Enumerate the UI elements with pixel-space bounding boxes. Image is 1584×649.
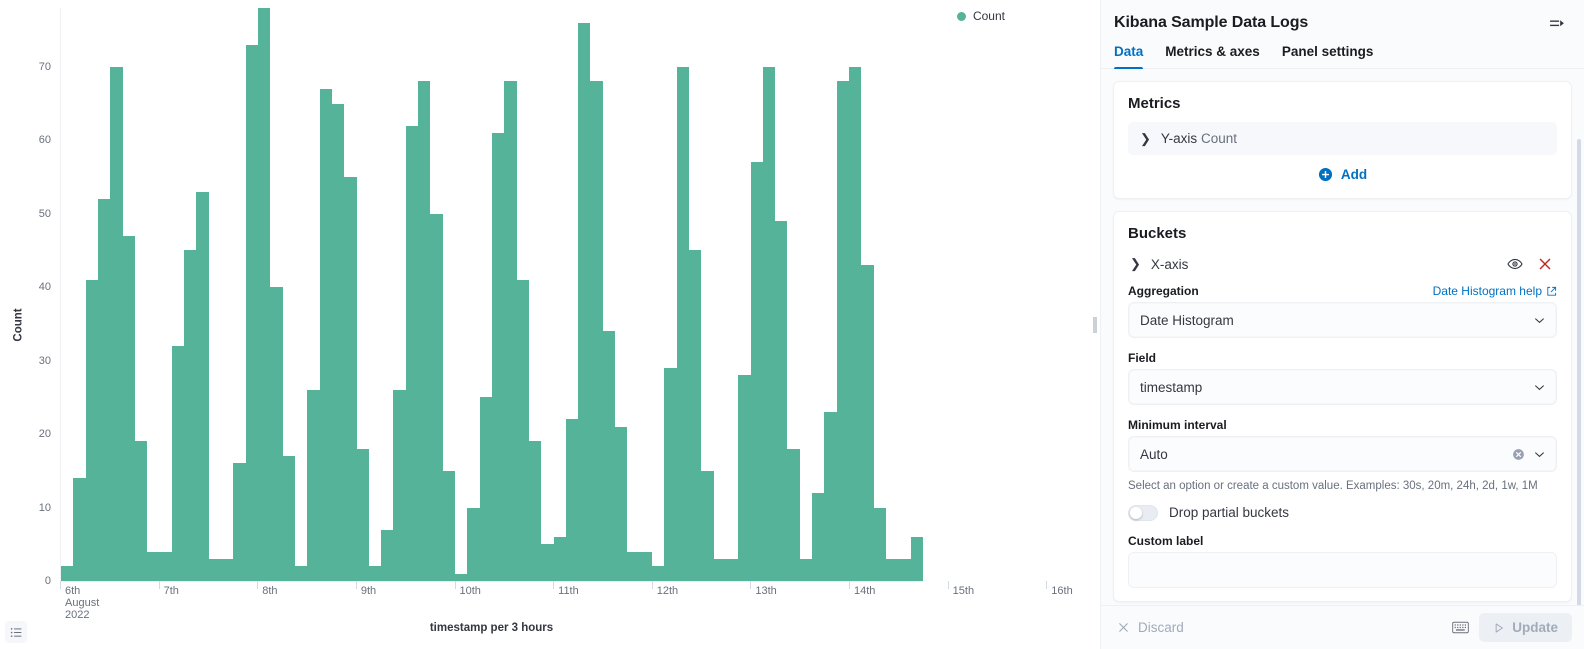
bar[interactable] bbox=[898, 559, 910, 581]
x-axis-tick: 14th bbox=[849, 581, 854, 589]
bar[interactable] bbox=[541, 544, 553, 581]
bar[interactable] bbox=[381, 530, 393, 581]
y-axis-tick: 60 bbox=[39, 134, 60, 146]
discard-button[interactable]: Discard bbox=[1117, 620, 1184, 635]
remove-bucket-button[interactable] bbox=[1535, 254, 1555, 274]
y-axis-title: Count bbox=[13, 308, 25, 341]
bar[interactable] bbox=[270, 287, 282, 581]
y-axis-tick: 50 bbox=[39, 208, 60, 220]
bar[interactable] bbox=[246, 45, 258, 581]
bar[interactable] bbox=[196, 192, 208, 581]
metrics-card: Metrics ❯ Y-axis Count Add bbox=[1113, 81, 1572, 199]
x-axis-tick-label: 12th bbox=[657, 586, 678, 597]
x-axis-tick: 6thAugust2022 bbox=[60, 581, 65, 589]
x-axis-tick-label: 9th bbox=[361, 586, 376, 597]
buckets-card: Buckets ❯ X-axis bbox=[1113, 211, 1572, 602]
toggle-knob bbox=[1130, 507, 1142, 519]
bar[interactable] bbox=[467, 508, 479, 581]
buckets-card-title: Buckets bbox=[1128, 225, 1557, 242]
x-axis-line bbox=[60, 581, 923, 582]
bar[interactable] bbox=[147, 552, 159, 581]
toggle-visibility-button[interactable] bbox=[1505, 254, 1525, 274]
bar[interactable] bbox=[61, 566, 73, 581]
x-axis-tick: 10th bbox=[455, 581, 460, 589]
discard-label: Discard bbox=[1138, 620, 1184, 635]
bar[interactable] bbox=[566, 419, 578, 581]
field-label: Field bbox=[1128, 351, 1557, 365]
x-axis-tick-label: 15th bbox=[953, 586, 974, 597]
metric-row-y-axis[interactable]: ❯ Y-axis Count bbox=[1128, 122, 1557, 155]
x-axis-tick: 12th bbox=[652, 581, 657, 589]
collapse-panel-icon bbox=[1549, 16, 1566, 33]
resize-grip-icon bbox=[1094, 317, 1097, 333]
add-metric-button[interactable]: Add bbox=[1128, 155, 1557, 185]
custom-label-input[interactable] bbox=[1128, 552, 1557, 588]
y-axis-tick: 30 bbox=[39, 355, 60, 367]
bar[interactable] bbox=[123, 236, 135, 581]
bar[interactable] bbox=[418, 81, 430, 581]
bar[interactable] bbox=[664, 368, 676, 581]
x-axis-tick-label: 8th bbox=[262, 586, 277, 597]
keyboard-shortcuts-button[interactable] bbox=[1449, 618, 1471, 638]
bar[interactable] bbox=[98, 199, 110, 581]
bar[interactable] bbox=[160, 552, 172, 581]
panel-resize-handle[interactable] bbox=[1090, 0, 1100, 649]
bar[interactable] bbox=[504, 81, 516, 581]
x-axis-bucket-label: X-axis bbox=[1151, 257, 1495, 272]
bar[interactable] bbox=[603, 331, 615, 581]
bar[interactable] bbox=[73, 478, 85, 581]
aggregation-select[interactable]: Date Histogram bbox=[1128, 302, 1557, 338]
bar[interactable] bbox=[751, 162, 763, 581]
close-icon bbox=[1117, 621, 1130, 634]
keyboard-shortcuts-icon bbox=[1452, 621, 1469, 634]
minimum-interval-select[interactable]: Auto bbox=[1128, 436, 1557, 472]
bar[interactable] bbox=[233, 463, 245, 581]
bar[interactable] bbox=[689, 250, 701, 581]
aggregation-value: Date Histogram bbox=[1140, 313, 1533, 328]
bar[interactable] bbox=[590, 81, 602, 581]
plot-area[interactable] bbox=[61, 8, 923, 581]
panel-title: Kibana Sample Data Logs bbox=[1114, 14, 1308, 32]
bar[interactable] bbox=[320, 89, 332, 581]
tab-metrics-and-axes[interactable]: Metrics & axes bbox=[1165, 44, 1260, 68]
bar[interactable] bbox=[455, 574, 467, 581]
bar[interactable] bbox=[775, 221, 787, 581]
bar[interactable] bbox=[726, 559, 738, 581]
date-histogram-help-link[interactable]: Date Histogram help bbox=[1433, 284, 1557, 298]
panel-footer: Discard bbox=[1101, 605, 1584, 649]
x-axis-tick: 16th bbox=[1046, 581, 1051, 589]
bar[interactable] bbox=[763, 67, 775, 581]
bar[interactable] bbox=[738, 375, 750, 581]
panel-tabs[interactable]: Data Metrics & axes Panel settings bbox=[1101, 35, 1584, 69]
bar[interactable] bbox=[640, 552, 652, 581]
field-value: timestamp bbox=[1140, 380, 1533, 395]
bar[interactable] bbox=[357, 449, 369, 581]
bar[interactable] bbox=[911, 537, 923, 581]
x-axis-tick: 15th bbox=[948, 581, 953, 589]
bar[interactable] bbox=[332, 104, 344, 582]
bar[interactable] bbox=[369, 566, 381, 581]
x-axis-tick: 8th bbox=[257, 581, 262, 589]
bar[interactable] bbox=[307, 390, 319, 581]
bar[interactable] bbox=[517, 280, 529, 581]
kibana-visualize-editor: Count Count 010203040506070 6thAugust202… bbox=[0, 0, 1584, 649]
chevron-down-icon bbox=[1533, 381, 1546, 394]
bar[interactable] bbox=[209, 559, 221, 581]
x-axis-tick: 13th bbox=[750, 581, 755, 589]
bar[interactable] bbox=[701, 471, 713, 581]
tab-panel-settings[interactable]: Panel settings bbox=[1282, 44, 1374, 68]
add-metric-label: Add bbox=[1341, 167, 1367, 182]
bar[interactable] bbox=[393, 390, 405, 581]
y-axis-tick: 40 bbox=[39, 281, 60, 293]
x-axis-tick-label: 11th bbox=[558, 586, 579, 597]
bar[interactable] bbox=[849, 67, 861, 581]
tab-data[interactable]: Data bbox=[1114, 44, 1143, 68]
x-axis-title: timestamp per 3 hours bbox=[60, 622, 923, 634]
plus-circle-icon bbox=[1318, 167, 1333, 182]
x-axis-tick-month: August bbox=[65, 598, 99, 609]
bar-series[interactable] bbox=[61, 8, 923, 581]
bar[interactable] bbox=[812, 493, 824, 581]
y-axis-tick: 10 bbox=[39, 502, 60, 514]
minimum-interval-hint: Select an option or create a custom valu… bbox=[1128, 478, 1557, 495]
legend-toggle-button[interactable] bbox=[5, 621, 27, 643]
config-panel: Kibana Sample Data Logs Data Metrics & a… bbox=[1100, 0, 1584, 649]
x-axis-tick: 9th bbox=[356, 581, 361, 589]
bar[interactable] bbox=[652, 566, 664, 581]
x-axis-bucket-header[interactable]: ❯ X-axis bbox=[1128, 252, 1557, 284]
chart-legend[interactable]: Count bbox=[957, 9, 1005, 23]
bar[interactable] bbox=[172, 346, 184, 581]
bar[interactable] bbox=[283, 456, 295, 581]
panel-scrollbar[interactable] bbox=[1577, 139, 1581, 605]
footer-actions: Update bbox=[1449, 613, 1572, 642]
bar[interactable] bbox=[578, 23, 590, 581]
drop-partial-buckets-row[interactable]: Drop partial buckets bbox=[1128, 505, 1557, 521]
chevron-right-icon: ❯ bbox=[1140, 132, 1151, 145]
update-label: Update bbox=[1512, 620, 1558, 635]
bar[interactable] bbox=[800, 559, 812, 581]
bar[interactable] bbox=[627, 552, 639, 581]
bar[interactable] bbox=[837, 81, 849, 581]
panel-body: Metrics ❯ Y-axis Count Add Buckets bbox=[1101, 69, 1584, 605]
bar[interactable] bbox=[714, 559, 726, 581]
legend-item-label: Count bbox=[973, 9, 1005, 23]
chevron-down-icon bbox=[1533, 448, 1546, 461]
bar[interactable] bbox=[110, 67, 122, 581]
bar[interactable] bbox=[258, 8, 270, 581]
bar[interactable] bbox=[886, 559, 898, 581]
bar[interactable] bbox=[677, 67, 689, 581]
y-axis-tick: 0 bbox=[45, 575, 60, 587]
drop-partial-buckets-toggle[interactable] bbox=[1128, 505, 1158, 521]
metrics-card-title: Metrics bbox=[1128, 95, 1557, 112]
bar[interactable] bbox=[295, 566, 307, 581]
bar[interactable] bbox=[430, 214, 442, 581]
bar[interactable] bbox=[221, 559, 233, 581]
play-icon bbox=[1493, 622, 1505, 634]
x-axis-tick-label: 6th bbox=[65, 586, 80, 597]
metric-row-label: Y-axis Count bbox=[1161, 131, 1237, 146]
update-button[interactable]: Update bbox=[1479, 613, 1572, 642]
clear-interval-button[interactable] bbox=[1512, 448, 1525, 461]
field-select[interactable]: timestamp bbox=[1128, 369, 1557, 405]
bar[interactable] bbox=[406, 126, 418, 581]
x-axis-tick-label: 10th bbox=[460, 586, 481, 597]
panel-header: Kibana Sample Data Logs bbox=[1101, 0, 1584, 35]
bar[interactable] bbox=[615, 427, 627, 581]
x-axis-tick-label: 16th bbox=[1051, 586, 1072, 597]
bar[interactable] bbox=[443, 471, 455, 581]
legend-color-dot bbox=[957, 12, 966, 21]
x-axis-tick-label: 14th bbox=[854, 586, 875, 597]
bar[interactable] bbox=[184, 250, 196, 581]
close-icon bbox=[1537, 256, 1553, 272]
bar[interactable] bbox=[492, 133, 504, 581]
chevron-down-icon: ❯ bbox=[1130, 256, 1141, 272]
custom-label-label: Custom label bbox=[1128, 534, 1557, 548]
bar[interactable] bbox=[529, 441, 541, 581]
clear-circle-icon bbox=[1512, 448, 1525, 461]
drop-partial-buckets-label: Drop partial buckets bbox=[1169, 505, 1289, 520]
x-axis-tick: 11th bbox=[553, 581, 558, 589]
bar[interactable] bbox=[554, 537, 566, 581]
external-link-icon bbox=[1546, 286, 1557, 297]
y-axis-tick: 20 bbox=[39, 428, 60, 440]
bar[interactable] bbox=[480, 397, 492, 581]
bar[interactable] bbox=[861, 265, 873, 581]
eye-icon bbox=[1507, 256, 1523, 272]
bar[interactable] bbox=[344, 177, 356, 581]
bar[interactable] bbox=[824, 412, 836, 581]
bar[interactable] bbox=[86, 280, 98, 581]
collapse-panel-button[interactable] bbox=[1547, 14, 1568, 35]
help-link-label: Date Histogram help bbox=[1433, 284, 1542, 298]
x-axis-tick-year: 2022 bbox=[65, 610, 89, 621]
bar[interactable] bbox=[787, 449, 799, 581]
minimum-interval-value: Auto bbox=[1140, 447, 1512, 462]
bar[interactable] bbox=[135, 441, 147, 581]
chevron-down-icon bbox=[1533, 314, 1546, 327]
aggregation-label: Aggregation bbox=[1128, 284, 1199, 298]
x-axis-tick: 7th bbox=[159, 581, 164, 589]
y-axis-tick: 70 bbox=[39, 61, 60, 73]
minimum-interval-label: Minimum interval bbox=[1128, 418, 1557, 432]
x-axis-tick-label: 7th bbox=[164, 586, 179, 597]
list-icon bbox=[10, 626, 23, 639]
bar[interactable] bbox=[874, 508, 886, 581]
chart-pane: Count Count 010203040506070 6thAugust202… bbox=[0, 0, 1090, 649]
plot-wrap: 010203040506070 bbox=[60, 8, 923, 581]
x-axis-tick-label: 13th bbox=[755, 586, 776, 597]
